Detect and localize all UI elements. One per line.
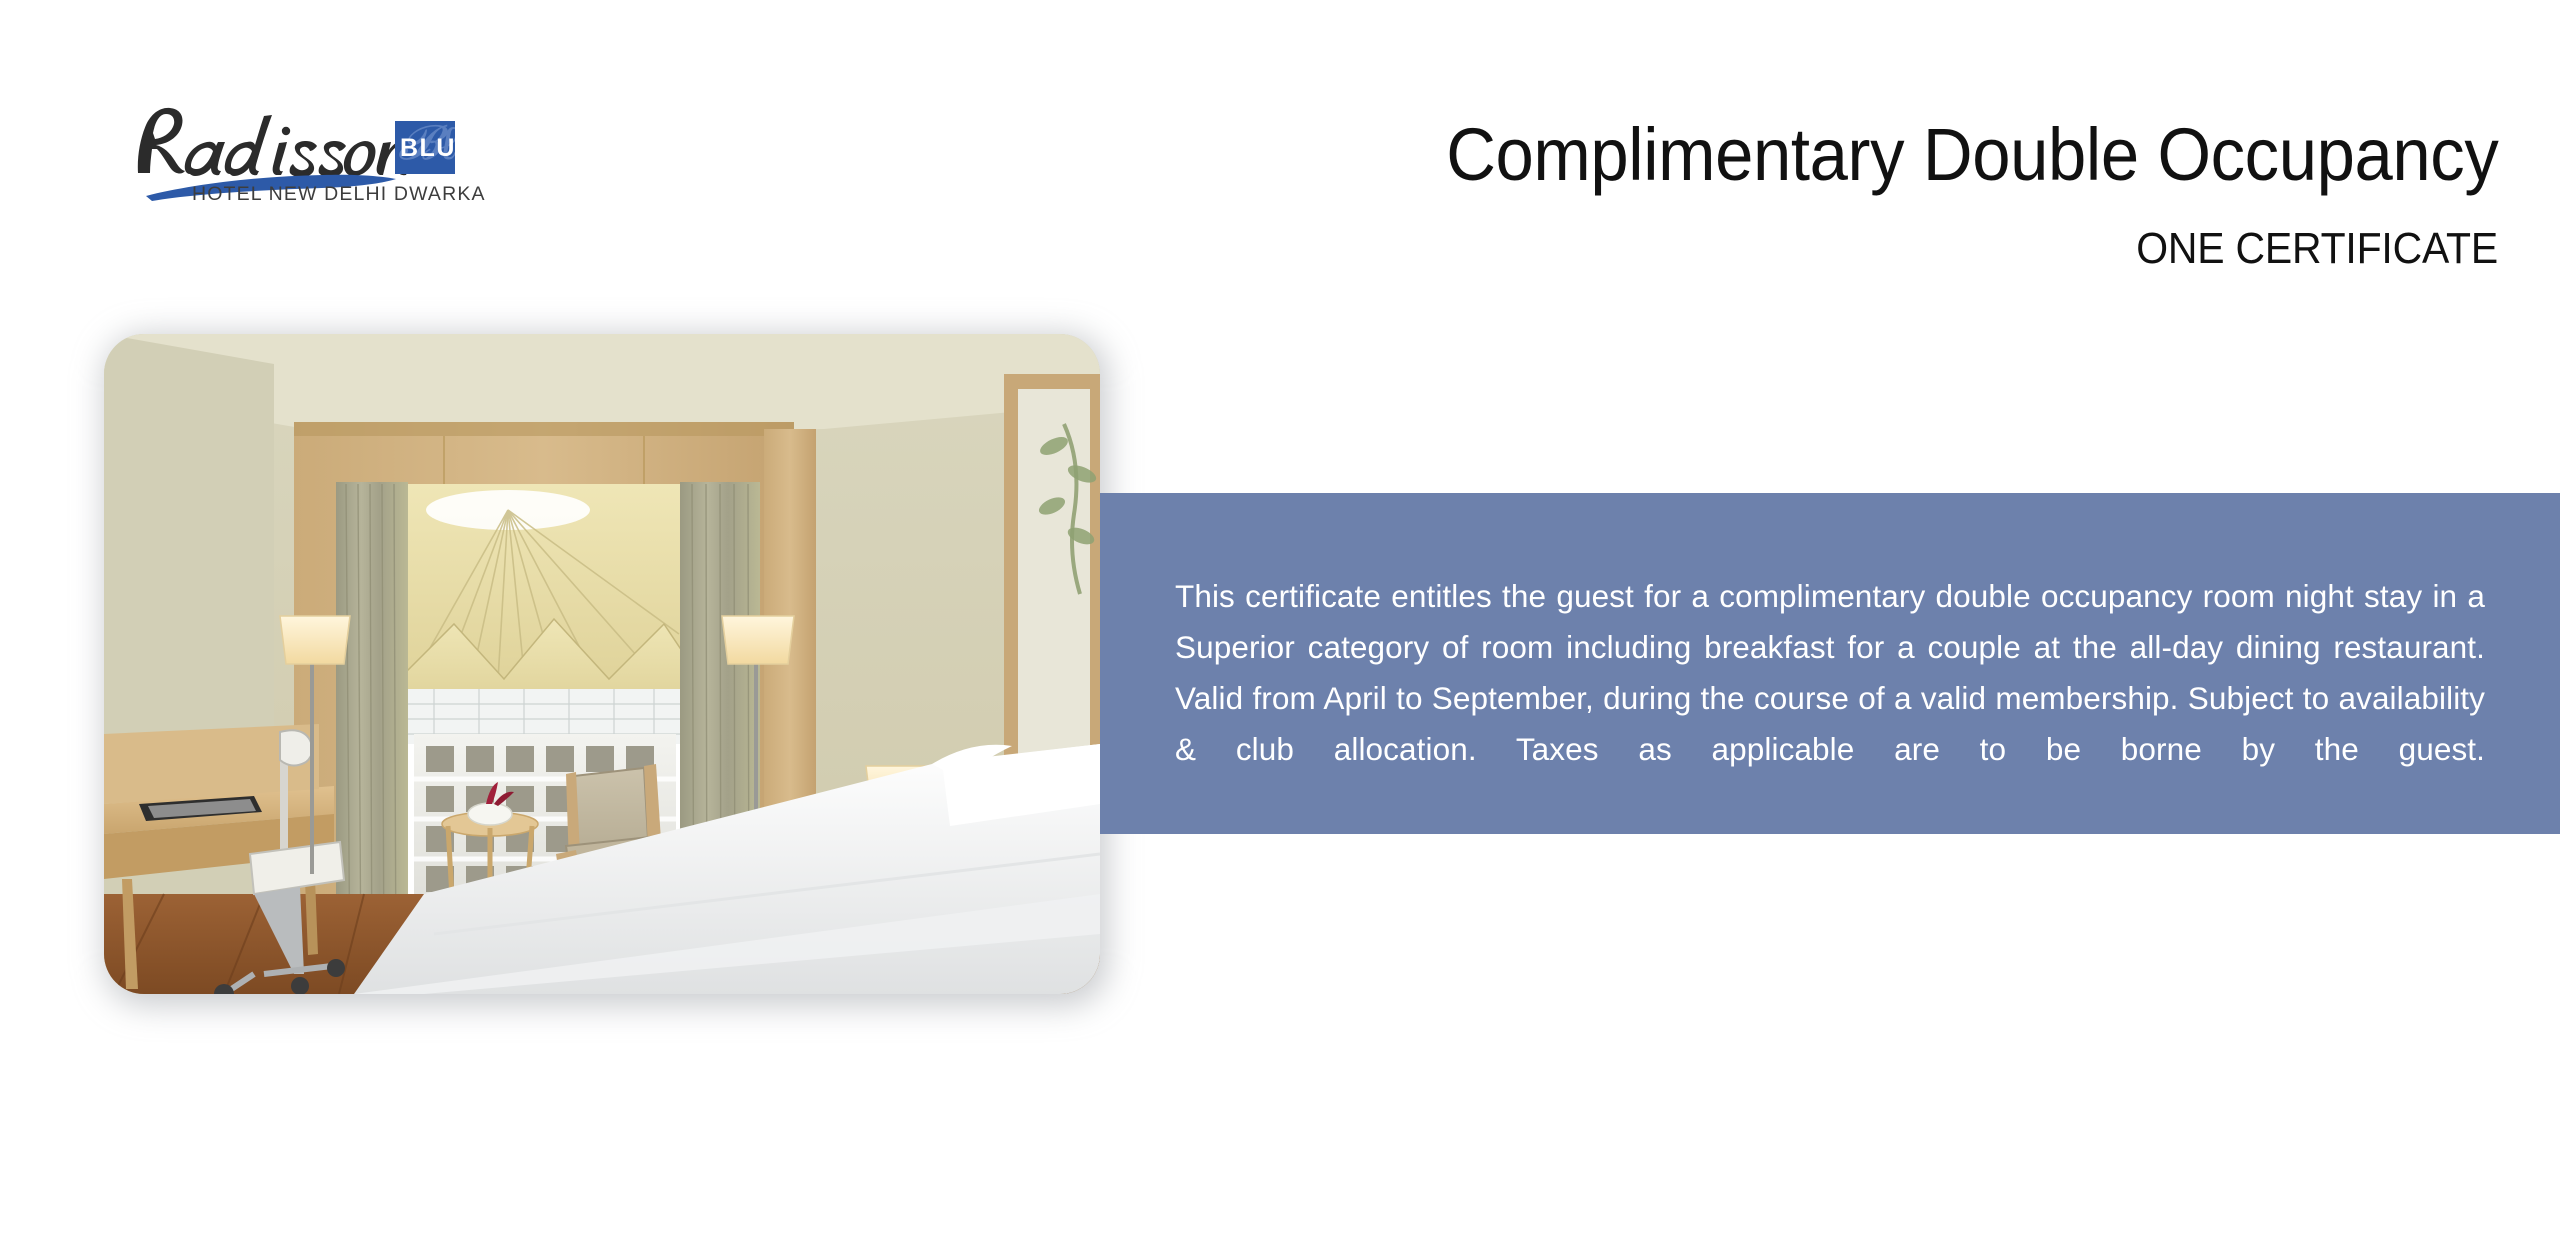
terms-text: This certificate entitles the guest for … — [1175, 571, 2485, 826]
blu-badge-icon: 𝓑ℓ𝓊 BLU — [395, 121, 455, 174]
page-title: Complimentary Double Occupancy — [1446, 118, 2498, 192]
blu-badge-label: BLU — [400, 136, 455, 161]
terms-panel: This certificate entitles the guest for … — [1100, 493, 2560, 834]
brand-logo: 𝓑ℓ𝓊 BLU HOTEL NEW DELHI DWARKA SAPPHIRE … — [118, 95, 478, 215]
page-subtitle: ONE CERTIFICATE — [2136, 227, 2498, 271]
certificate-page: 𝓑ℓ𝓊 BLU HOTEL NEW DELHI DWARKA SAPPHIRE … — [0, 0, 2560, 1238]
hotel-room-illustration — [104, 334, 1100, 994]
hotel-tagline: HOTEL NEW DELHI DWARKA — [192, 183, 486, 206]
hotel-room-photo — [104, 334, 1100, 994]
radisson-blu-logo: 𝓑ℓ𝓊 BLU HOTEL NEW DELHI DWARKA — [118, 95, 458, 215]
